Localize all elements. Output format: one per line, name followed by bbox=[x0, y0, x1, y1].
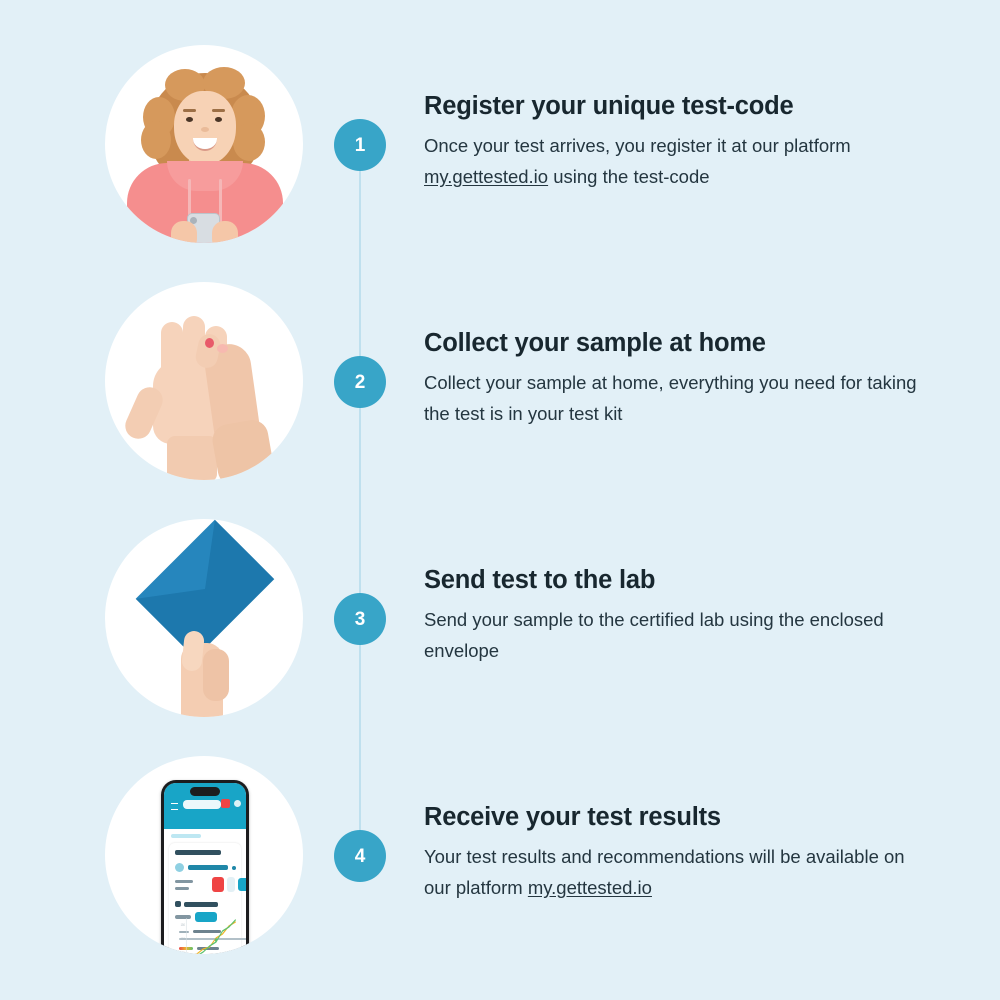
hand-left-shape bbox=[171, 221, 197, 243]
step-content-2: Collect your sample at home Collect your… bbox=[424, 329, 934, 430]
pdf-download-icon[interactable] bbox=[212, 877, 224, 892]
step-badge-3: 3 bbox=[334, 593, 386, 645]
svg-text:50: 50 bbox=[182, 951, 185, 954]
line-chart-svg: 150 100 50 bbox=[179, 916, 237, 954]
step-description-1-part-2: using the test-code bbox=[548, 166, 709, 187]
eye-right-icon bbox=[215, 117, 222, 122]
nose-icon bbox=[201, 127, 209, 132]
smartphone-results-app-photo: 150 100 50 bbox=[105, 756, 303, 954]
step-content-1: Register your unique test-code Once your… bbox=[424, 92, 934, 193]
comparison-section-title bbox=[184, 902, 218, 907]
step-badge-2: 2 bbox=[334, 356, 386, 408]
back-to-list-link bbox=[171, 834, 201, 838]
how-it-works-steps: 1 Register your unique test-code Once yo… bbox=[0, 0, 1000, 1000]
created-meta-text bbox=[175, 880, 193, 883]
step-description-1: Once your test arrives, you register it … bbox=[424, 131, 934, 192]
finger-prick-hands-photo bbox=[105, 282, 303, 480]
step-item-4: 150 100 50 4 bbox=[0, 753, 1000, 963]
blood-drop-icon bbox=[205, 338, 214, 348]
hand-knuckles-shape bbox=[203, 649, 229, 701]
hand-right-shape bbox=[212, 221, 238, 243]
blue-envelope-shape bbox=[136, 520, 275, 659]
hair-curl-left-lower-icon bbox=[141, 121, 171, 159]
wrist-shape bbox=[167, 436, 217, 480]
step-description-4-part-1: Your test results and recommendations wi… bbox=[424, 846, 905, 898]
step-title-2: Collect your sample at home bbox=[424, 329, 934, 358]
step-description-3: Send your sample to the certified lab us… bbox=[424, 605, 934, 666]
add-note-button[interactable] bbox=[238, 878, 246, 891]
hand-holding-blue-envelope-photo bbox=[105, 519, 303, 717]
comparison-icon bbox=[175, 901, 181, 907]
expand-icon bbox=[232, 866, 236, 870]
gettested-logo bbox=[183, 800, 221, 809]
results-line-chart: 150 100 50 bbox=[179, 916, 237, 954]
results-card: 150 100 50 bbox=[169, 843, 241, 954]
eyebrow-right-icon bbox=[212, 109, 225, 112]
avatar-icon bbox=[234, 800, 241, 807]
step-item-2: 2 Collect your sample at home Collect yo… bbox=[0, 279, 1000, 489]
step-description-4: Your test results and recommendations wi… bbox=[424, 842, 934, 903]
step-item-3: 3 Send test to the lab Send your sample … bbox=[0, 516, 1000, 726]
fingernail-icon bbox=[217, 344, 228, 353]
platform-link-1[interactable]: my.gettested.io bbox=[424, 166, 548, 187]
smartphone-screen: 150 100 50 bbox=[164, 783, 246, 954]
share-icon[interactable] bbox=[227, 877, 235, 892]
envelope-flap-icon bbox=[136, 520, 245, 629]
test-icon bbox=[175, 863, 184, 872]
eye-left-icon bbox=[186, 117, 193, 122]
svg-text:150: 150 bbox=[181, 923, 186, 927]
woman-with-smartphone-photo bbox=[105, 45, 303, 243]
step-item-1: 1 Register your unique test-code Once yo… bbox=[0, 42, 1000, 252]
step-badge-1: 1 bbox=[334, 119, 386, 171]
step-badge-4: 4 bbox=[334, 830, 386, 882]
step-title-3: Send test to the lab bbox=[424, 566, 934, 595]
test-name-text bbox=[188, 865, 228, 870]
svg-text:100: 100 bbox=[181, 937, 186, 941]
hair-curl-right-lower-icon bbox=[233, 123, 265, 161]
smartphone-body-shape: 150 100 50 bbox=[161, 780, 249, 954]
step-title-1: Register your unique test-code bbox=[424, 92, 934, 121]
step-description-2: Collect your sample at home, everything … bbox=[424, 368, 934, 429]
result-meta-text bbox=[175, 887, 189, 890]
eyebrow-left-icon bbox=[183, 109, 196, 112]
second-hand-lower-shape bbox=[210, 418, 276, 480]
step-title-4: Receive your test results bbox=[424, 803, 934, 832]
platform-link-4[interactable]: my.gettested.io bbox=[528, 877, 652, 898]
step-content-4: Receive your test results Your test resu… bbox=[424, 803, 934, 904]
hamburger-menu-icon bbox=[171, 803, 178, 810]
step-description-1-part-1: Once your test arrives, you register it … bbox=[424, 135, 851, 156]
step-connector-line bbox=[359, 147, 361, 857]
card-title-text bbox=[175, 850, 221, 855]
alert-badge-icon bbox=[221, 799, 230, 808]
step-content-3: Send test to the lab Send your sample to… bbox=[424, 566, 934, 667]
smartphone-notch-icon bbox=[190, 787, 220, 796]
